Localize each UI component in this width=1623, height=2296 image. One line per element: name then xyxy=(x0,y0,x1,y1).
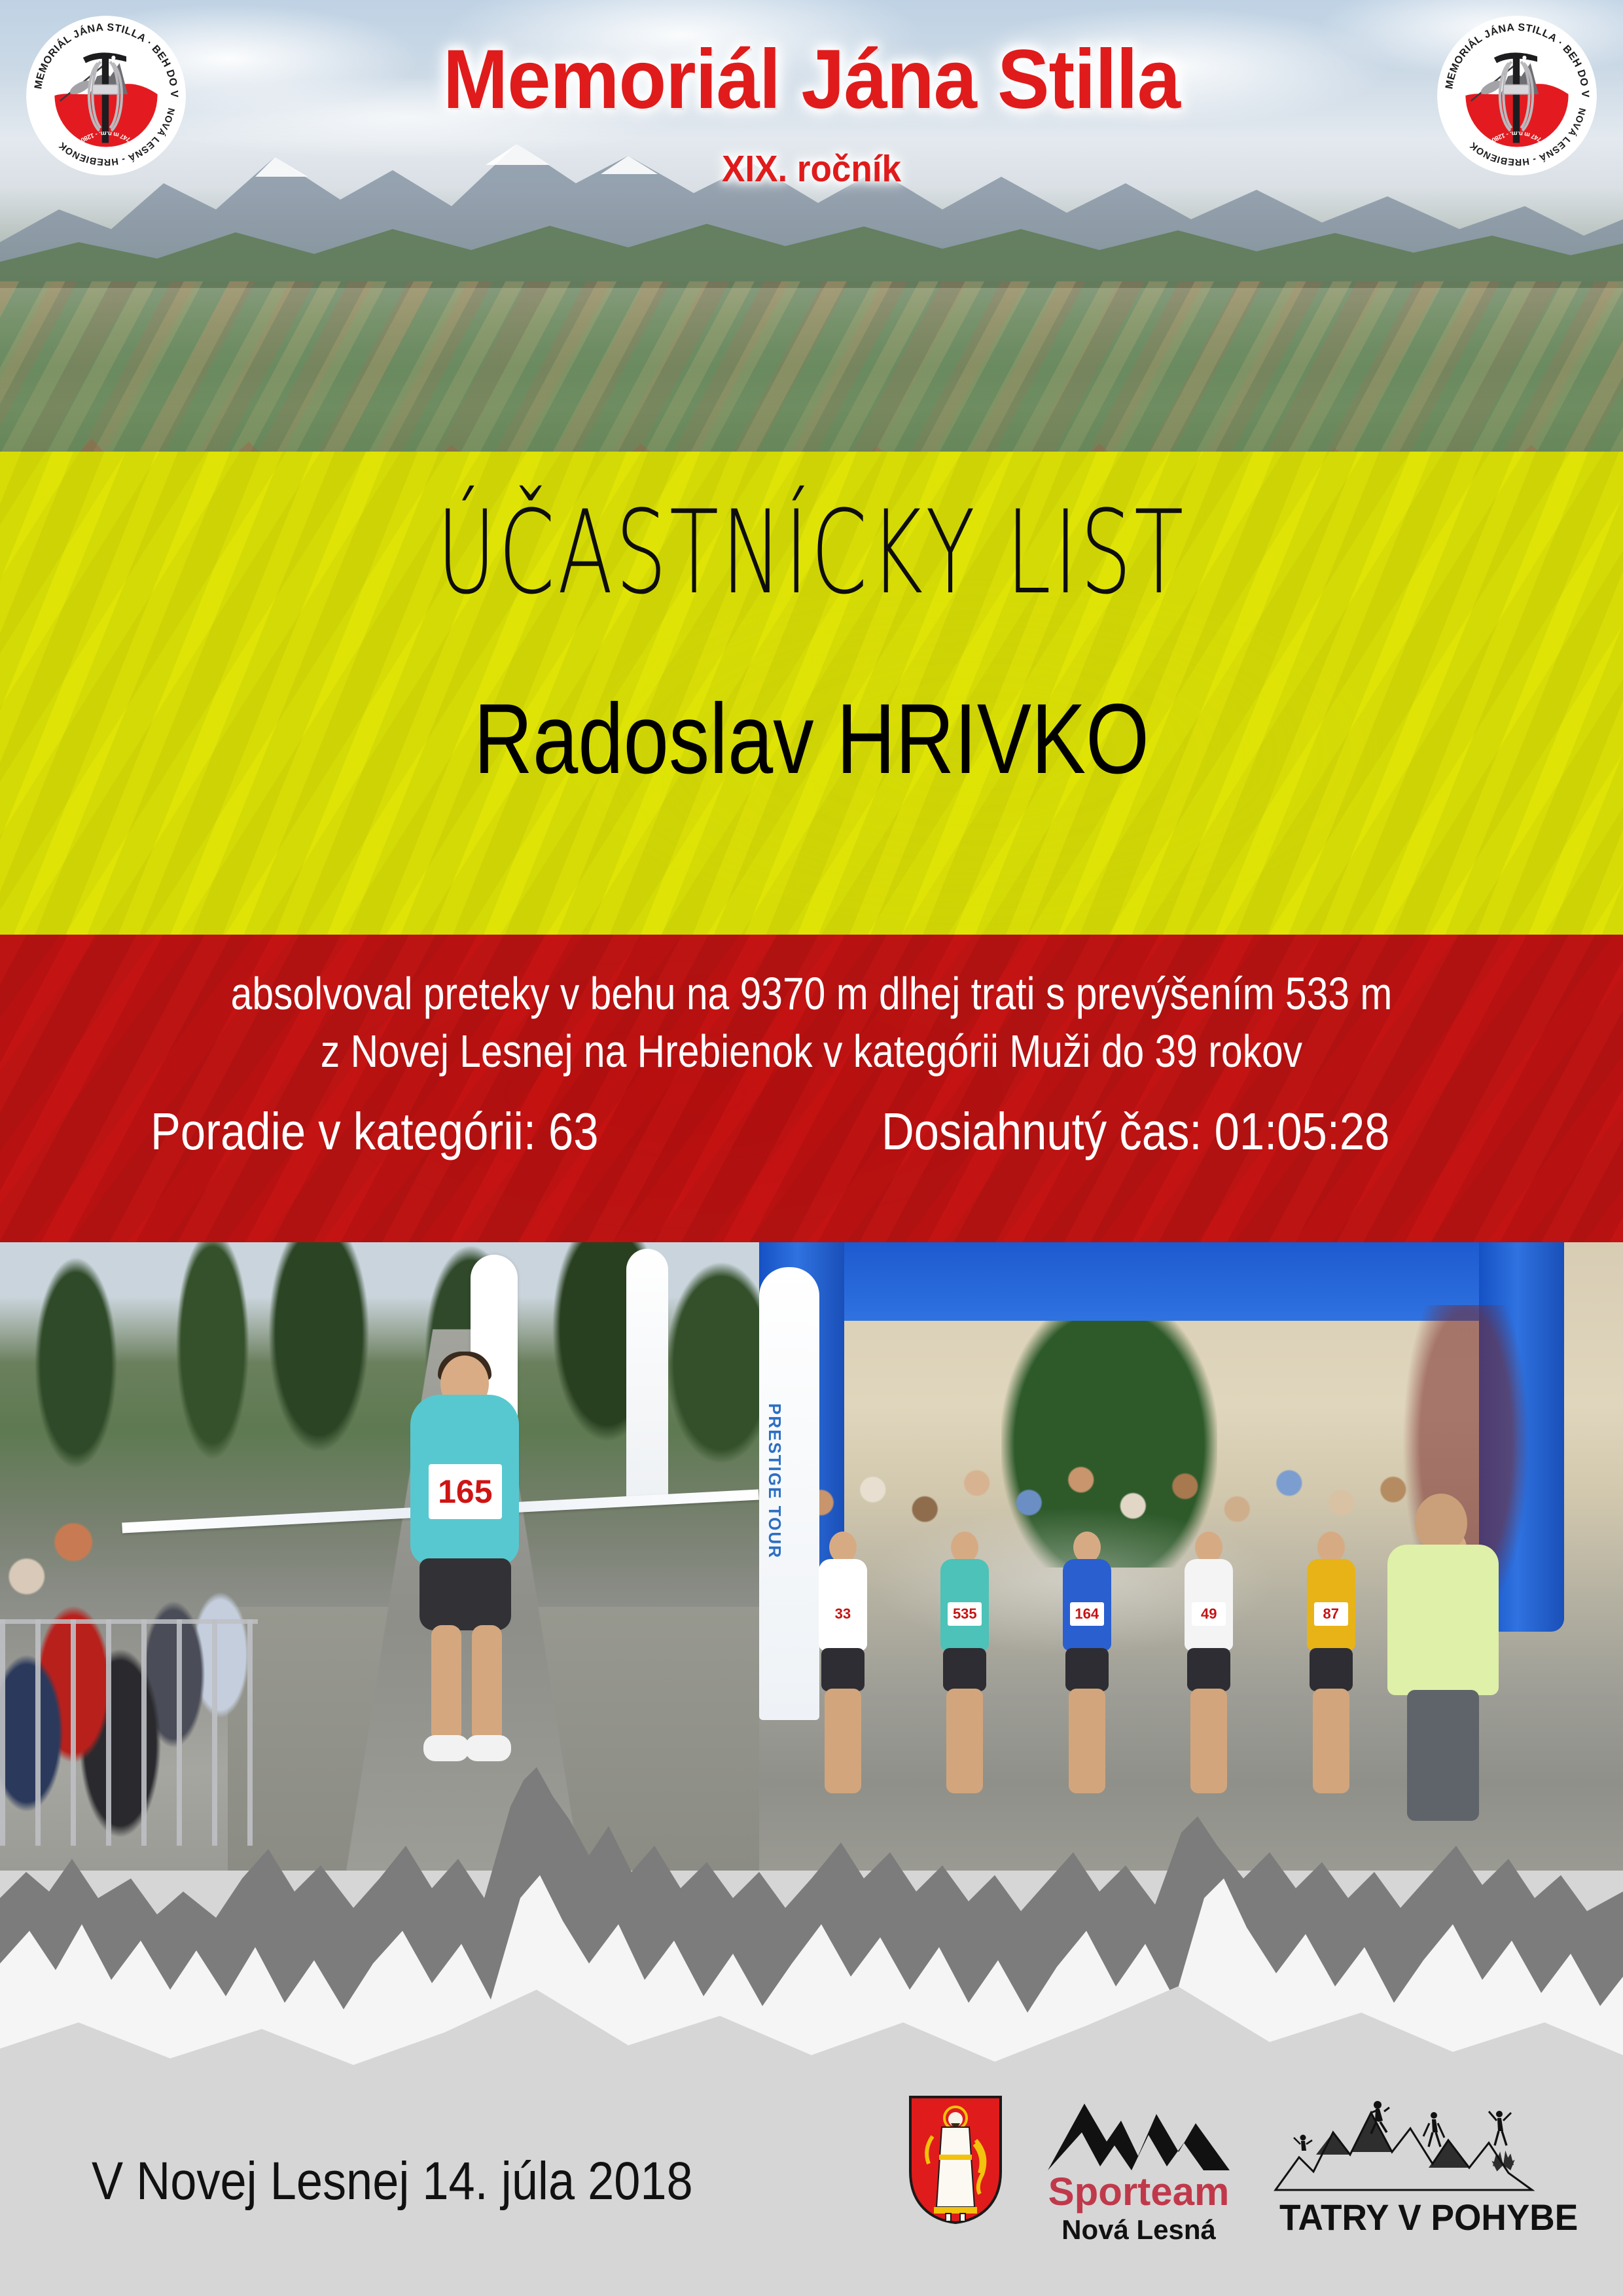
issue-date: V Novej Lesnej 14. júla 2018 xyxy=(92,2151,693,2212)
runner-legs xyxy=(1069,1689,1105,1793)
footer: V Novej Lesnej 14. júla 2018 xyxy=(0,2094,1623,2296)
finish-line-photo: 165 stu xyxy=(0,1242,759,1871)
official-trousers xyxy=(1407,1690,1479,1821)
participation-certificate-poster: MEMORIÁL JÁNA STILLA · BEH DO VRCHU NOVÁ… xyxy=(0,0,1623,2296)
runner-head xyxy=(1195,1532,1222,1563)
event-edition: XIX. ročník xyxy=(57,147,1566,190)
runner-head xyxy=(1317,1532,1345,1563)
runner-legs xyxy=(946,1689,983,1793)
runner-head xyxy=(1073,1532,1101,1563)
official-head xyxy=(1415,1494,1467,1552)
road-ground-marking: stu xyxy=(508,1804,550,1833)
finish-time: Dosiahnutý čas: 01:05:28 xyxy=(882,1102,1389,1162)
start-runner: 535 xyxy=(907,1532,1022,1833)
prestige-tour-flag-text: PRESTIGE TOUR xyxy=(764,1403,785,1559)
runner-leg-right xyxy=(472,1625,502,1743)
runner-shorts xyxy=(419,1558,511,1630)
runner-shoe-left xyxy=(423,1735,469,1761)
tatry-v-pohybe-wordmark: TATRY V POHYBE xyxy=(1279,2196,1528,2238)
runner-legs xyxy=(825,1689,861,1793)
start-runner: 87 xyxy=(1273,1532,1388,1833)
nova-lesna-coat-of-arms xyxy=(906,2094,1005,2225)
runner-shorts xyxy=(943,1648,986,1691)
official-jacket xyxy=(1387,1545,1499,1695)
tatry-mountains-runners-icon xyxy=(1273,2094,1535,2193)
tatry-v-pohybe-logo: TATRY V POHYBE xyxy=(1273,2094,1535,2238)
runner-shorts xyxy=(1065,1648,1109,1691)
runner-bib-number: 165 xyxy=(429,1464,502,1519)
runner-head xyxy=(829,1532,857,1563)
start-runner: 49 xyxy=(1151,1532,1266,1833)
runner-leg-left xyxy=(431,1625,461,1743)
runner-legs xyxy=(1190,1689,1227,1793)
runner-bib-number: 87 xyxy=(1314,1602,1348,1626)
start-runner: 33 xyxy=(785,1532,901,1833)
event-title: Memoriál Jána Stilla xyxy=(57,38,1566,122)
race-description-line-1: absolvoval preteky v behu na 9370 m dlhe… xyxy=(130,967,1493,1020)
runner-head xyxy=(951,1532,978,1563)
sporteam-location: Nová Lesná xyxy=(1044,2214,1234,2246)
photo-strip: 165 stu PRESTIGE TOUR xyxy=(0,1242,1623,1871)
runner-bib-number: 164 xyxy=(1070,1602,1104,1626)
runner-shorts xyxy=(1187,1648,1230,1691)
finish-photo-barrier xyxy=(0,1619,258,1846)
runner-bib-number: 535 xyxy=(948,1602,982,1626)
finish-photo-flag-banner-2 xyxy=(626,1249,668,1500)
race-description-line-2: z Novej Lesnej na Hrebienok v kategórii … xyxy=(130,1025,1493,1077)
runner-shorts xyxy=(821,1648,865,1691)
race-official xyxy=(1381,1494,1512,1846)
yellow-banner: ÚČASTNÍCKY LIST Radoslav HRIVKO xyxy=(0,452,1623,936)
mass-start-photo: PRESTIGE TOUR 33 535 xyxy=(759,1242,1623,1871)
sporteam-logo: Sporteam Nová Lesná xyxy=(1044,2094,1234,2246)
start-runner: 164 xyxy=(1029,1532,1145,1833)
sporteam-wordmark: Sporteam xyxy=(1044,2172,1234,2212)
document-title: ÚČASTNÍCKY LIST xyxy=(243,486,1380,620)
category-rank: Poradie v kategórii: 63 xyxy=(151,1102,599,1162)
finishing-runner: 165 xyxy=(402,1355,527,1761)
runner-shoe-right xyxy=(465,1735,511,1761)
participant-name: Radoslav HRIVKO xyxy=(146,682,1477,797)
sporteam-mountain-icon xyxy=(1044,2094,1234,2173)
sponsor-logos: Sporteam Nová Lesná xyxy=(906,2094,1535,2291)
red-banner: absolvoval preteky v behu na 9370 m dlhe… xyxy=(0,935,1623,1242)
runner-shorts xyxy=(1310,1648,1353,1691)
runner-legs xyxy=(1313,1689,1349,1793)
runner-bib-number: 33 xyxy=(826,1602,860,1626)
runner-bib-number: 49 xyxy=(1192,1602,1226,1626)
results-row: Poradie v kategórii: 63 Dosiahnutý čas: … xyxy=(151,1102,1472,1162)
